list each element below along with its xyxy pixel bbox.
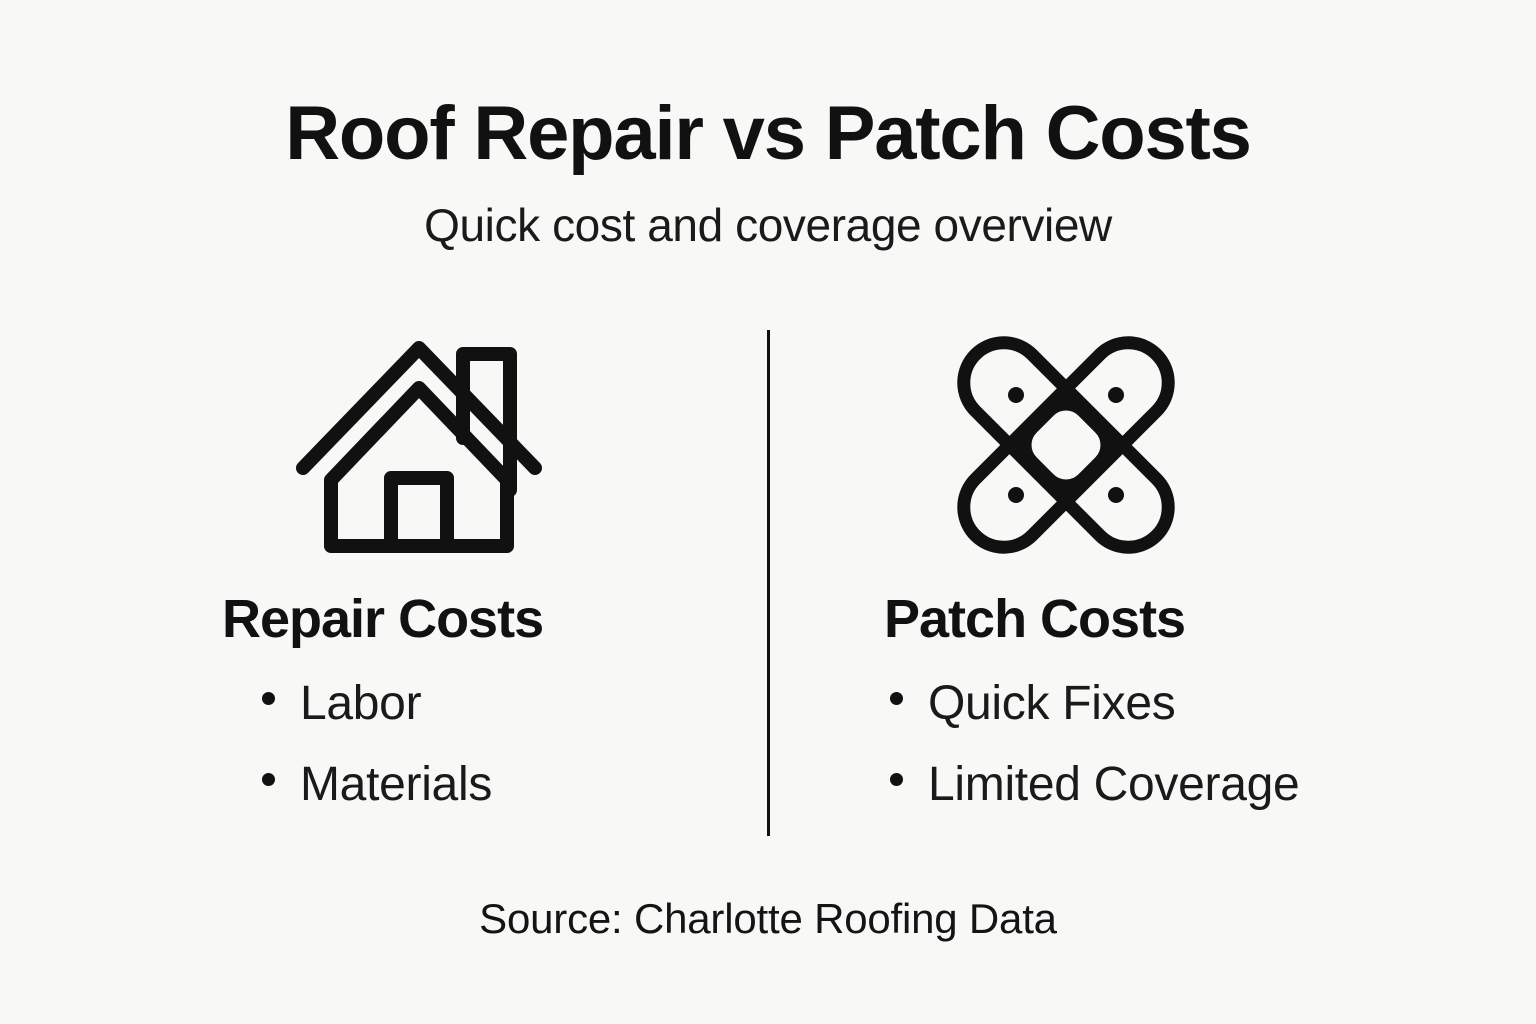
house-icon-container [40, 330, 740, 560]
bullet-label: Limited Coverage [928, 761, 1299, 809]
list-item: Materials [262, 761, 740, 809]
bullet-label: Labor [300, 680, 421, 728]
list-item: Quick Fixes [890, 680, 1500, 728]
comparison-columns: Repair Costs Labor Materials [0, 330, 1536, 850]
column-heading-repair: Repair Costs [40, 560, 740, 646]
house-icon [295, 338, 545, 553]
bullet-dot-icon [890, 692, 903, 705]
infographic-canvas: Roof Repair vs Patch Costs Quick cost an… [0, 0, 1536, 1024]
column-patch: Patch Costs Quick Fixes Limited Coverage [800, 330, 1500, 842]
column-repair: Repair Costs Labor Materials [40, 330, 740, 842]
list-item: Limited Coverage [890, 761, 1500, 809]
bullet-list-patch: Quick Fixes Limited Coverage [800, 646, 1500, 809]
bullet-label: Quick Fixes [928, 680, 1175, 728]
bandage-icon [955, 336, 1177, 554]
column-divider [767, 330, 770, 836]
bandage-icon-container [800, 330, 1500, 560]
bullet-list-repair: Labor Materials [40, 646, 740, 809]
page-title: Roof Repair vs Patch Costs [0, 96, 1536, 172]
column-heading-patch: Patch Costs [800, 560, 1500, 646]
list-item: Labor [262, 680, 740, 728]
bullet-dot-icon [262, 773, 275, 786]
bullet-dot-icon [890, 773, 903, 786]
page-subtitle: Quick cost and coverage overview [0, 172, 1536, 248]
bullet-dot-icon [262, 692, 275, 705]
bullet-label: Materials [300, 761, 492, 809]
source-attribution: Source: Charlotte Roofing Data [0, 895, 1536, 943]
header: Roof Repair vs Patch Costs Quick cost an… [0, 96, 1536, 248]
